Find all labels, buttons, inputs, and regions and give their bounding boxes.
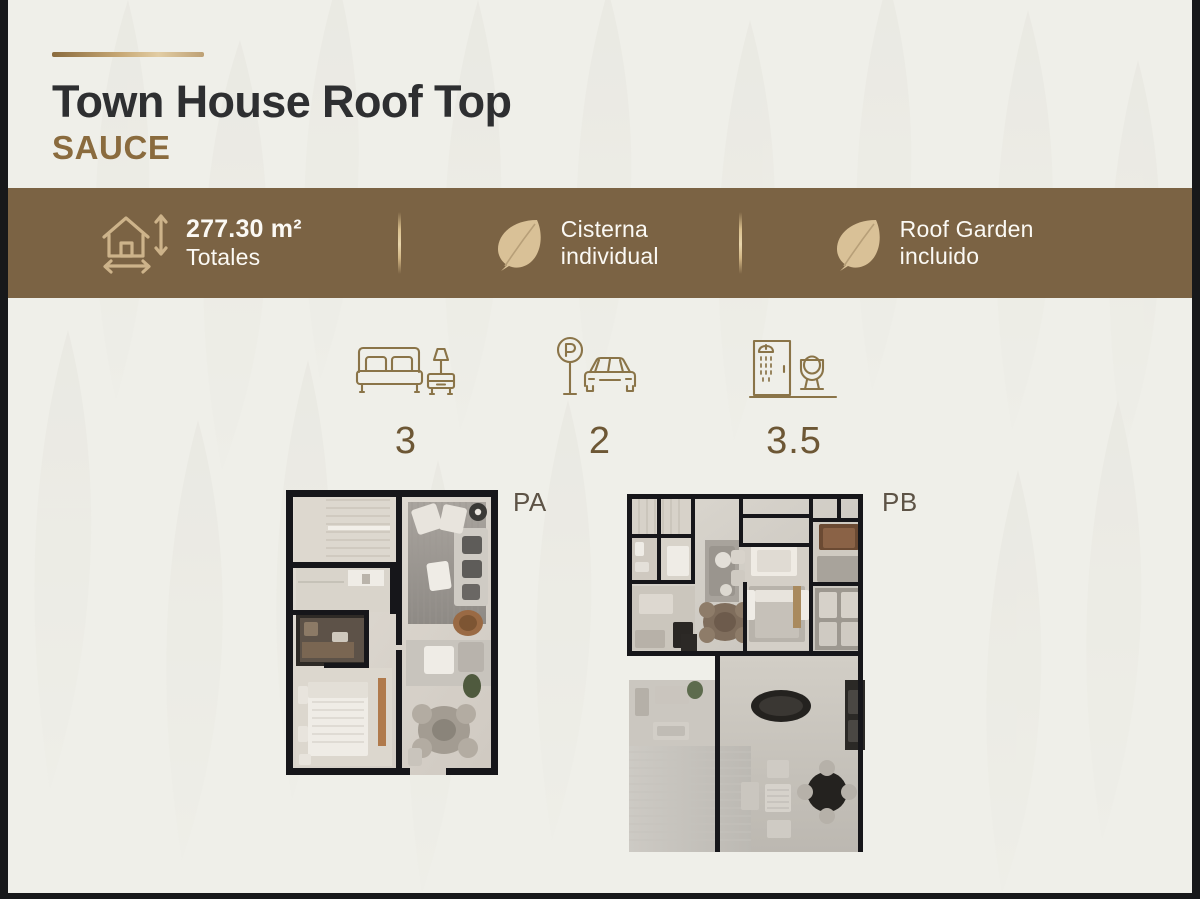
feature-cisterna-text: Cisterna individual [561,216,659,270]
roof-garden-line-1: Roof Garden [900,216,1034,243]
total-area-label: Totales [186,244,302,271]
shower-toilet-icon [748,335,840,407]
feature-total-area: 277.30 m² Totales [98,211,302,275]
page-sheet: Town House Roof Top SAUCE [8,0,1192,893]
roof-garden-line-2: incluido [900,243,1034,270]
feature-roof-garden-text: Roof Garden incluido [900,216,1034,270]
bedrooms-count: 3 [309,420,503,463]
feature-total-area-text: 277.30 m² Totales [186,215,302,272]
feature-bar: 277.30 m² Totales Cisterna individual [8,188,1192,298]
house-dimensions-icon [98,211,170,275]
page-subtitle: SAUCE [52,131,511,165]
feature-cisterna: Cisterna individual [493,215,659,271]
amenity-row: 3 [8,334,1192,463]
amenity-bedrooms: 3 [309,334,503,463]
feature-divider-1 [398,212,401,274]
gold-rule-accent [52,52,204,57]
amenity-parking: 2 [503,334,697,463]
amenity-bedrooms-icon-wrap [309,334,503,408]
amenity-bathrooms: 3.5 [697,334,891,463]
page-header: Town House Roof Top SAUCE [52,52,511,165]
brochure-page: Town House Roof Top SAUCE [0,0,1200,899]
leaf-icon [832,215,884,271]
cisterna-line-1: Cisterna [561,216,659,243]
feature-roof-garden: Roof Garden incluido [832,215,1034,271]
page-title: Town House Roof Top [52,79,511,125]
total-area-value: 277.30 m² [186,215,302,245]
bathrooms-count: 3.5 [697,420,891,463]
amenity-parking-icon-wrap [503,334,697,408]
parking-car-icon [552,336,648,406]
feature-divider-2 [739,212,742,274]
leaf-icon [493,215,545,271]
planta-baja-floor-plan[interactable] [619,490,871,865]
amenity-bathrooms-icon-wrap [697,334,891,408]
planta-alta-floor-plan[interactable] [286,490,498,775]
bed-nightstand-icon [354,338,458,404]
parking-count: 2 [503,420,697,463]
cisterna-line-2: individual [561,243,659,270]
floor-plan-row [8,490,1192,890]
